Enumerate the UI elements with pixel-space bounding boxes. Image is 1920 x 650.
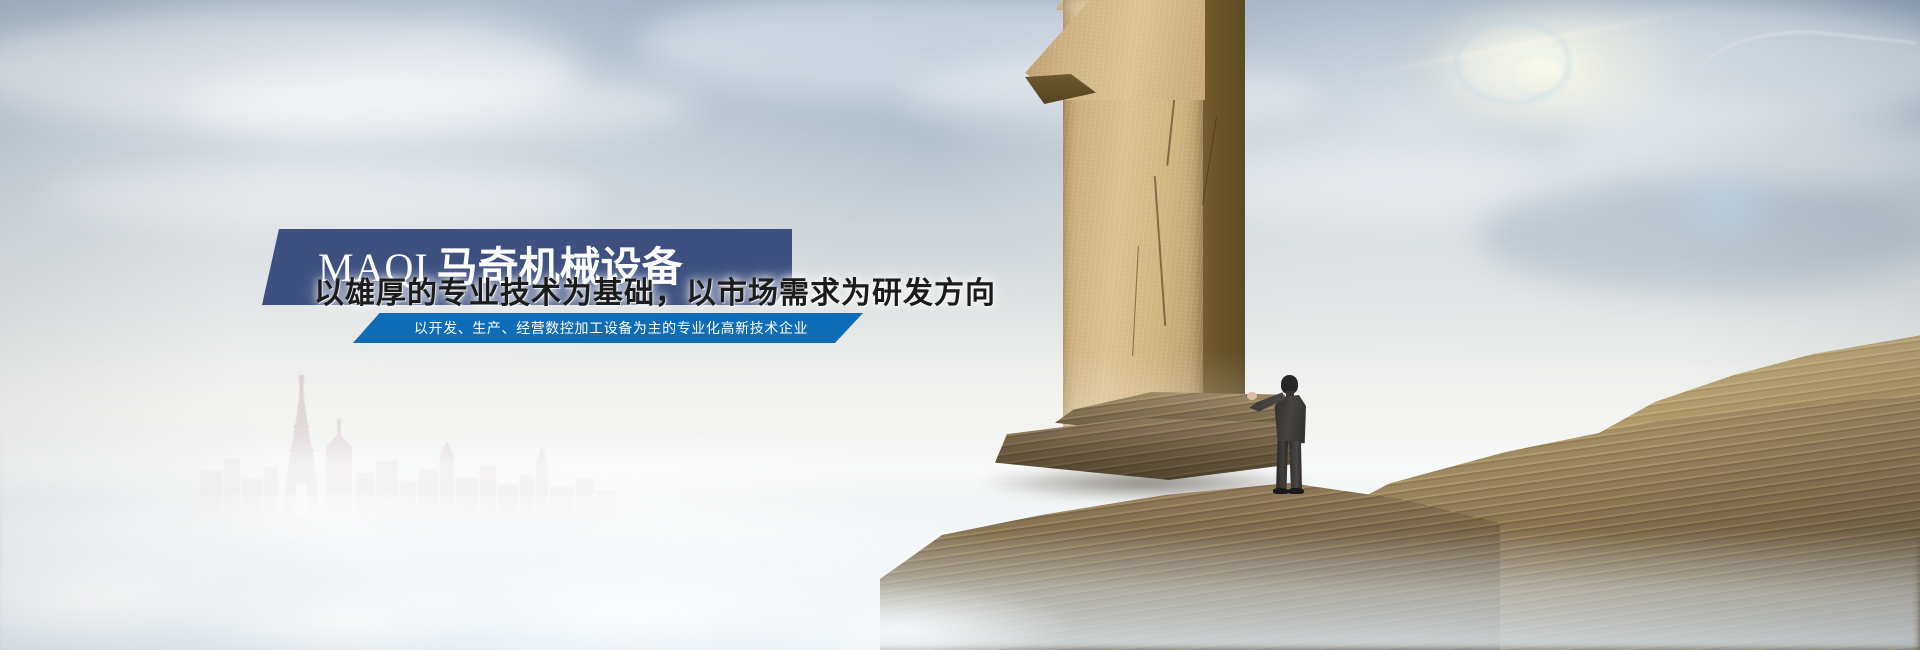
banner-tagline: 以开发、生产、经营数控加工设备为主的专业化高新技术企业 [408, 318, 808, 338]
tagline-banner-shape: 以开发、生产、经营数控加工设备为主的专业化高新技术企业 [353, 313, 863, 343]
banner-subtitle: 以雄厚的专业技术为基础，以市场需求为研发方向 [314, 268, 1214, 312]
banner-text-block: MAQI马奇机械设备 以雄厚的专业技术为基础，以市场需求为研发方向 以开发、生产… [0, 0, 1920, 650]
hero-banner: MAQI马奇机械设备 以雄厚的专业技术为基础，以市场需求为研发方向 以开发、生产… [0, 0, 1920, 650]
